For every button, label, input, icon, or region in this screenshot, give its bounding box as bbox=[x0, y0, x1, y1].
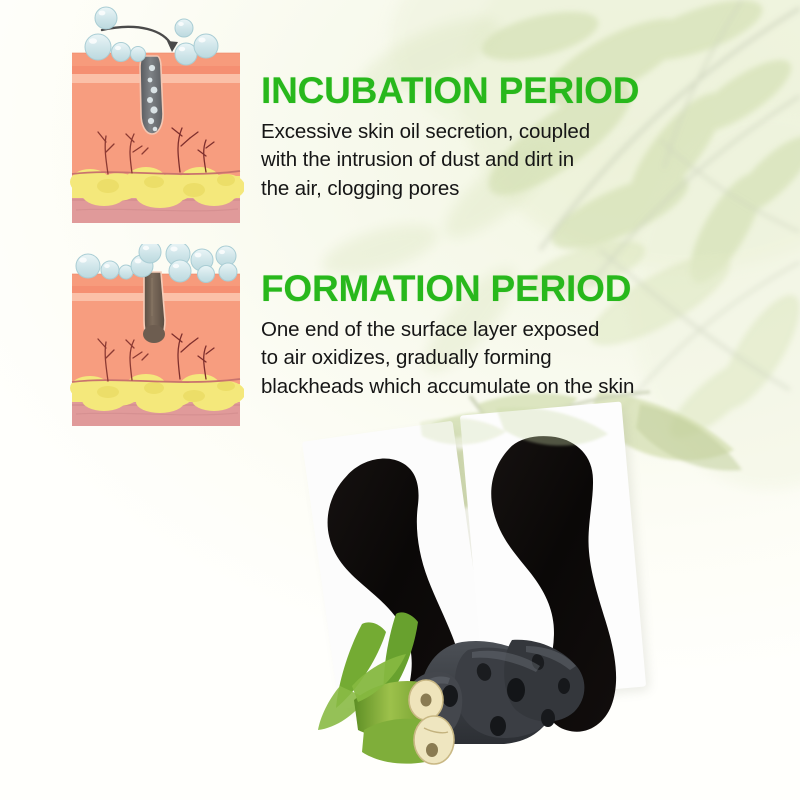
blackhead-plug bbox=[143, 272, 165, 343]
incubation-heading: INCUBATION PERIOD bbox=[261, 72, 661, 109]
section-formation: FORMATION PERIOD One end of the surface … bbox=[261, 270, 701, 401]
flow-arrow bbox=[102, 27, 172, 46]
formation-line-1: One end of the surface layer exposed bbox=[261, 316, 701, 344]
formation-line-2: to air oxidizes, gradually forming bbox=[261, 344, 701, 372]
skin-block bbox=[70, 53, 244, 223]
bamboo-cut-end-lower bbox=[414, 716, 454, 764]
skin-block bbox=[70, 272, 244, 426]
formation-line-3: blackheads which accumulate on the skin bbox=[261, 373, 701, 401]
section-incubation: INCUBATION PERIOD Excessive skin oil sec… bbox=[261, 72, 661, 203]
incubation-body: Excessive skin oil secretion, coupled wi… bbox=[261, 118, 661, 203]
skin-diagram-blackhead-plug bbox=[68, 244, 244, 430]
incubation-line-3: the air, clogging pores bbox=[261, 175, 661, 203]
incubation-line-1: Excessive skin oil secretion, coupled bbox=[261, 118, 661, 146]
incubation-line-2: with the intrusion of dust and dirt in bbox=[261, 146, 661, 174]
product-photo-nose-strips bbox=[300, 400, 800, 800]
infographic-canvas: INCUBATION PERIOD Excessive skin oil sec… bbox=[0, 0, 800, 800]
clogged-pore bbox=[140, 56, 163, 134]
formation-heading: FORMATION PERIOD bbox=[261, 270, 701, 307]
skin-diagram-clogged-pore bbox=[68, 2, 244, 228]
formation-body: One end of the surface layer exposed to … bbox=[261, 316, 701, 401]
